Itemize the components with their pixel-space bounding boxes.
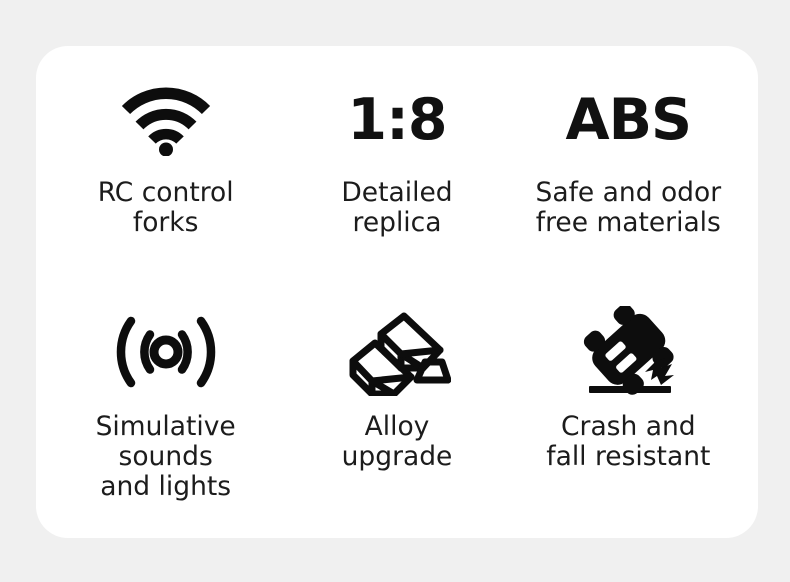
- feature-caption: Simulative sounds and lights: [96, 412, 236, 503]
- sound-waves-icon: [114, 300, 218, 404]
- crashed-car-icon: [573, 300, 683, 404]
- wifi-icon: [120, 72, 212, 168]
- gold-bars-icon: [343, 300, 451, 404]
- feature-item-detailed-replica: 1:8 Detailed replica: [281, 72, 512, 294]
- feature-caption: Crash and fall resistant: [546, 412, 710, 472]
- feature-caption: RC control forks: [98, 178, 234, 238]
- feature-item-crash-resistant: Crash and fall resistant: [513, 294, 744, 516]
- feature-item-sounds-and-lights: Simulative sounds and lights: [50, 294, 281, 516]
- feature-item-abs-materials: ABS Safe and odor free materials: [513, 72, 744, 294]
- scale-ratio-value: 1:8: [347, 92, 446, 149]
- feature-caption: Alloy upgrade: [342, 412, 453, 472]
- feature-caption: Safe and odor free materials: [536, 178, 722, 238]
- feature-item-rc-control-forks: RC control forks: [50, 72, 281, 294]
- scale-ratio-text: 1:8: [347, 72, 446, 168]
- abs-material-value: ABS: [566, 92, 692, 149]
- abs-material-text: ABS: [566, 72, 692, 168]
- feature-grid: RC control forks 1:8 Detailed replica AB…: [36, 46, 758, 538]
- feature-caption: Detailed replica: [341, 178, 452, 238]
- feature-highlights-card: RC control forks 1:8 Detailed replica AB…: [36, 46, 758, 538]
- feature-item-alloy-upgrade: Alloy upgrade: [281, 294, 512, 516]
